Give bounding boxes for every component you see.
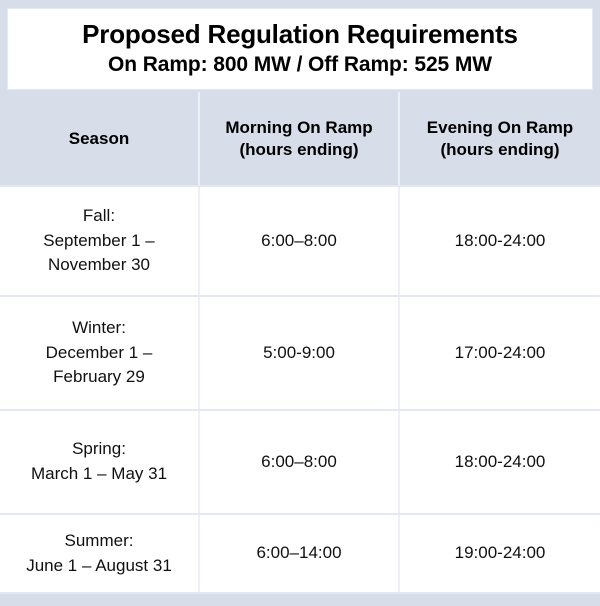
column-header-morning-line2: (hours ending) bbox=[240, 140, 359, 159]
cell-morning-on-ramp: 6:00–8:00 bbox=[200, 411, 400, 513]
column-header-evening-line1: Evening On Ramp bbox=[427, 118, 573, 137]
regulation-requirements-table: Proposed Regulation Requirements On Ramp… bbox=[0, 0, 600, 606]
season-label-spring: Spring: March 1 – May 31 bbox=[31, 437, 167, 486]
cell-evening-on-ramp: 19:00-24:00 bbox=[400, 515, 600, 592]
page-title: Proposed Regulation Requirements bbox=[82, 20, 518, 49]
page-subtitle: On Ramp: 800 MW / Off Ramp: 525 MW bbox=[108, 52, 492, 78]
morning-hours-winter: 5:00-9:00 bbox=[263, 341, 335, 366]
table-row: Spring: March 1 – May 31 6:00–8:00 18:00… bbox=[0, 409, 600, 513]
column-header-season: Season bbox=[0, 92, 200, 185]
column-header-evening-on-ramp: Evening On Ramp (hours ending) bbox=[400, 92, 600, 185]
column-header-evening-line2: (hours ending) bbox=[441, 140, 560, 159]
evening-hours-fall: 18:00-24:00 bbox=[455, 229, 546, 254]
column-header-morning-stack: Morning On Ramp (hours ending) bbox=[225, 117, 372, 160]
cell-evening-on-ramp: 18:00-24:00 bbox=[400, 411, 600, 513]
column-header-season-label: Season bbox=[69, 128, 129, 149]
evening-hours-spring: 18:00-24:00 bbox=[455, 450, 546, 475]
column-header-morning-line1: Morning On Ramp bbox=[225, 118, 372, 137]
morning-hours-spring: 6:00–8:00 bbox=[261, 450, 337, 475]
cell-season: Winter: December 1 – February 29 bbox=[0, 297, 200, 409]
cell-morning-on-ramp: 5:00-9:00 bbox=[200, 297, 400, 409]
evening-hours-winter: 17:00-24:00 bbox=[455, 341, 546, 366]
table-row: Winter: December 1 – February 29 5:00-9:… bbox=[0, 295, 600, 409]
cell-season: Fall: September 1 – November 30 bbox=[0, 187, 200, 295]
cell-season: Spring: March 1 – May 31 bbox=[0, 411, 200, 513]
table-grid: Season Morning On Ramp (hours ending) Ev… bbox=[0, 92, 600, 594]
table-title-cell: Proposed Regulation Requirements On Ramp… bbox=[7, 8, 593, 90]
column-header-evening-stack: Evening On Ramp (hours ending) bbox=[427, 117, 573, 160]
morning-hours-fall: 6:00–8:00 bbox=[261, 229, 337, 254]
cell-season: Summer: June 1 – August 31 bbox=[0, 515, 200, 592]
season-label-summer: Summer: June 1 – August 31 bbox=[26, 529, 172, 578]
morning-hours-summer: 6:00–14:00 bbox=[256, 541, 341, 566]
cell-evening-on-ramp: 17:00-24:00 bbox=[400, 297, 600, 409]
season-label-fall: Fall: September 1 – November 30 bbox=[43, 204, 155, 278]
cell-morning-on-ramp: 6:00–8:00 bbox=[200, 187, 400, 295]
cell-evening-on-ramp: 18:00-24:00 bbox=[400, 187, 600, 295]
table-row: Summer: June 1 – August 31 6:00–14:00 19… bbox=[0, 513, 600, 594]
table-header-row: Season Morning On Ramp (hours ending) Ev… bbox=[0, 92, 600, 185]
table-row: Fall: September 1 – November 30 6:00–8:0… bbox=[0, 185, 600, 295]
evening-hours-summer: 19:00-24:00 bbox=[455, 541, 546, 566]
cell-morning-on-ramp: 6:00–14:00 bbox=[200, 515, 400, 592]
column-header-morning-on-ramp: Morning On Ramp (hours ending) bbox=[200, 92, 400, 185]
season-label-winter: Winter: December 1 – February 29 bbox=[46, 316, 153, 390]
